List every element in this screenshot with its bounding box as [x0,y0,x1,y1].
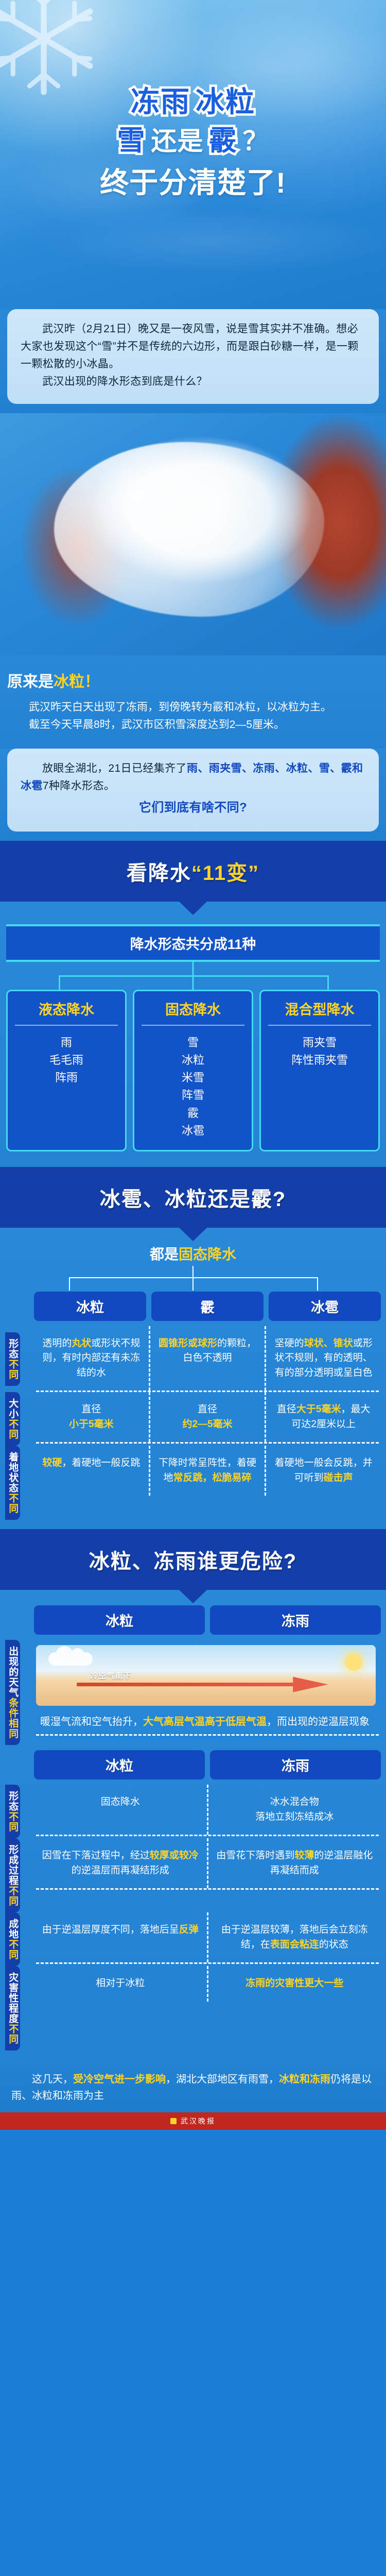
cell-text-highlight: 反弹 [179,1924,199,1935]
row-label-part-1: 大小 [7,1398,18,1419]
cell-text-highlight: 大于5毫米 [296,1404,341,1415]
row-label-shape: 形态不同 [5,1332,20,1386]
cell-text-pre: 由于逆温层厚度不同，落地后呈 [42,1924,179,1935]
ice-pellet-heading: 原来是冰粒！ [7,669,379,691]
cell-text-highlight: 小于5毫米 [69,1419,114,1430]
cell-text-highlight: 较厚或较冷 [150,1850,199,1861]
connector-drop-2 [192,1277,194,1291]
sun-icon [345,1653,362,1671]
row-label-part-2: 不同 [7,2024,18,2044]
cell-shape-hail: 坚硬的球状、锥状或形状不规则，有的透明、有的部分透明或呈白色 [265,1326,381,1391]
table-row: 灾害性程度不同 相对于冰粒 冻雨的灾害性更大一些 [5,1966,381,2050]
illustration-arrow-label: 冷空气南下 [91,1670,132,1681]
hubei-section: 放眼全湖北，21日已经集齐了雨、雨夹雪、冻雨、冰粒、雪、霰和冰雹7种降水形态。 … [0,749,386,841]
cell-severity-ice-pellets: 相对于冰粒 [34,1966,207,2002]
cell-shape2-freezing-rain: 冰水混合物 落地立刻冻结成冰 [207,1785,381,1835]
divider [142,1025,244,1026]
logo-mark-icon [170,2118,177,2124]
cell-text-pre: 因雪在下落过程中，经过 [42,1850,150,1861]
inversion-text-post: ，而出现的逆温层现象 [267,1716,370,1727]
banner-compare2-title: 冰粒、冻雨谁更危险? [5,1545,381,1574]
connector-drop-3 [327,975,329,990]
list-item: 冰粒 [138,1052,248,1069]
tree-column-title: 液态降水 [12,998,121,1025]
banner-11-prefix: 看降水 [127,862,191,885]
hero-title-word-or: 还是 [151,121,204,158]
cell-shape-graupel: 圆锥形或球形的颗粒，白色不透明 [149,1326,265,1391]
row-separator [36,1734,379,1736]
cell-text-highlight: 碰击声 [324,1472,353,1483]
row-label-part-2: 不同 [7,1493,18,1514]
cell-size-ice-pellets: 直径小于5毫米 [34,1392,149,1442]
ice-pellet-heading-highlight: 冰粒！ [54,673,100,690]
tree-column-solid: 固态降水 雪 冰粒 米雪 阵雪 霰 冰雹 [133,990,253,1151]
connector-drop-1 [69,1277,70,1291]
compare1-lead: 都是固态降水 [5,1243,381,1264]
cell-text-highlight: 约2—5毫米 [182,1419,232,1430]
list-item: 阵雪 [138,1087,248,1104]
intro-section: 武汉昨（2月21日）晚又是一夜风雪，说是雪其实并不准确。想必大家也发现这个“雪”… [0,309,386,413]
row-label-same-conditions: 出现的天气条件相同 [5,1640,20,1745]
ice-pellet-paragraph-2: 截至今天早晨8时，武汉市区积雪深度达到2—5厘米。 [7,716,379,734]
table-row: 形态不同 透明的丸状或形状不规则，有时内部还有未冻结的水 圆锥形或球形的颗粒，白… [5,1326,381,1393]
banner-notch-icon [179,901,207,915]
hubei-text-c: 7种降水形态。 [43,780,115,792]
row-label-landing: 着地状态不同 [5,1446,20,1520]
tree-column-liquid: 液态降水 雨 毛毛雨 阵雨 [6,990,127,1151]
ice-pellets-photo [0,413,386,655]
table-row: 出现的天气条件相同 冷空气南下 暖湿气流和空气抬升，大气高层气温高于低层气温，而… [5,1640,381,1745]
compare1-lead-prefix: 都是 [150,1246,179,1262]
row-label-formation: 形成过程不同 [5,1838,20,1912]
tree-column-title: 固态降水 [138,998,248,1025]
row-label-part-1: 着地状态 [7,1452,18,1493]
list-item: 阵性雨夹雪 [265,1052,374,1069]
inversion-text-pre: 暖湿气流和空气抬升， [40,1716,143,1727]
column-header-ice-pellets: 冰粒 [34,1292,146,1321]
column-header-ice-pellets-2: 冰粒 [34,1605,205,1635]
banner-11-highlight: “11变” [191,862,259,885]
snowflake-icon [0,0,103,98]
cell-text-post: ，着硬地一般反跳 [62,1458,140,1468]
row-separator [36,1962,379,1964]
cell-text-pre: 直径 [277,1404,296,1415]
intro-card: 武汉昨（2月21日）晚又是一夜风雪，说是雪其实并不准确。想必大家也发现这个“雪”… [7,309,379,404]
list-item: 冰雹 [138,1122,248,1140]
cell-formation-ice-pellets: 因雪在下落过程中，经过较厚或较冷的逆温层而再凝结形成 [34,1838,207,1888]
compare1-header-row: 冰粒 霰 冰雹 [5,1292,381,1326]
cell-text-highlight: 圆锥形或球形 [159,1338,217,1349]
inversion-text-highlight: 大气高层气温高于低层气温 [143,1716,267,1727]
tree-column-title: 混合型降水 [265,998,374,1025]
cell-size-graupel: 直径约2—5毫米 [149,1392,265,1442]
hubei-text-a: 放眼全湖北，21日已经集齐了 [42,762,187,774]
hero-title-word-graupel: 霰 [209,126,238,156]
tree-title: 降水形态共分成11种 [6,924,380,962]
table-row: 成地不同 由于逆温层厚度不同，落地后呈反弹 由于逆温层较薄，落地后会立刻冻结，在… [5,1912,381,1966]
hero-subtitle: 终于分清楚了! [100,160,286,201]
column-header-freezing-rain-2: 冻雨 [210,1750,381,1780]
footer-brand: 武汉晚报 [181,2116,216,2126]
hero-title-word-ice-pellets: 冰粒 [196,87,255,117]
cell-text-post: 的逆温层而再凝结形成 [72,1865,169,1876]
hero-section: 冻雨 冰粒 雪 还是 霰 ？ 终于分清楚了! [0,0,386,309]
footer-text-highlight-2: 冰粒和冻雨 [279,2074,330,2085]
list-item: 雨夹雪 [265,1034,374,1052]
spacer [5,1745,29,1785]
compare2-header-row: 冰粒 冻雨 [5,1605,381,1640]
row-label-part-1: 出现的天气 [7,1646,18,1698]
column-header-graupel: 霰 [151,1292,264,1321]
cell-landing-hail: 着硬地一般会反跳，并可听到碰击声 [265,1446,381,1496]
cell-text-highlight: 表面会粘连 [270,1939,319,1950]
intro-paragraph-1: 武汉昨（2月21日）晚又是一夜风雪，说是雪其实并不准确。想必大家也发现这个“雪”… [21,320,365,373]
cell-text-pre: 直径 [81,1404,101,1415]
banner-compare1-title: 冰雹、冰粒还是霰? [5,1182,381,1212]
connector-drop-1 [59,975,60,990]
table-row: 形态不同 固态降水 冰水混合物 落地立刻冻结成冰 [5,1785,381,1838]
tree-columns: 液态降水 雨 毛毛雨 阵雨 固态降水 雪 冰粒 米雪 阵雪 霰 冰雹 [6,990,380,1151]
row-separator [36,1888,379,1890]
cell-text-highlight: 较硬 [42,1458,62,1468]
list-item: 毛毛雨 [12,1052,121,1069]
connector-stem [192,1266,194,1277]
banner-notch-icon [179,1227,207,1241]
connector-drop-2 [192,975,194,990]
cell-ground-ice-pellets: 由于逆温层厚度不同，落地后呈反弹 [34,1912,207,1962]
compare1-lead-highlight: 固态降水 [179,1246,236,1262]
ice-pellet-heading-prefix: 原来是 [7,673,54,690]
footer-text-mid: ，湖北大部地区有雨雪， [166,2074,279,2085]
hero-title: 冻雨 冰粒 雪 还是 霰 ？ 终于分清楚了! [0,87,386,201]
banner-notch-icon [179,1589,207,1603]
hubei-question: 它们到底有啥不同? [21,798,365,818]
row-label-shape-2: 形态不同 [5,1785,20,1838]
row-label-part-2: 不同 [7,1359,18,1380]
row-label-part-1: 形态 [7,1791,18,1811]
ice-pellet-explain-section: 原来是冰粒！ 武汉昨天白天出现了冻雨，到傍晚转为霰和冰粒，以冰粒为主。 截至今天… [0,655,386,749]
precipitation-tree: 降水形态共分成11种 液态降水 雨 毛毛雨 阵雨 固态降水 [0,902,386,1167]
spacer [5,1605,29,1640]
cell-text-pre: 直径 [198,1404,217,1415]
cell-severity-freezing-rain: 冻雨的灾害性更大一些 [207,1966,381,2002]
cell-landing-graupel: 下降时常呈阵性，着硬地常反跳，松脆易碎 [149,1446,265,1496]
cell-text-highlight: 常反跳，松脆易碎 [173,1472,252,1483]
cell-size-hail: 直径大于5毫米，最大可达2厘米以上 [265,1392,381,1442]
cell-text-pre: 透明的 [42,1338,72,1349]
cell-ground-freezing-rain: 由于逆温层较薄，落地后会立刻冻结，在表面会粘连的状态 [207,1912,381,1962]
row-label-part-2: 条件相同 [7,1698,18,1739]
cell-text-highlight: 丸状 [72,1338,91,1349]
connector-drop-3 [317,1277,318,1291]
banner-hail-vs-pellets: 冰雹、冰粒还是霰? [0,1167,386,1228]
intro-paragraph-2: 武汉出现的降水形态到底是什么？ [21,373,365,391]
compare-table-2: 冰粒 冻雨 出现的天气条件相同 冷空气南下 暖湿气流和空气 [0,1590,386,2060]
footer-bar: 武汉晚报 [0,2112,386,2130]
row-label-part-2: 不同 [7,1886,18,1906]
column-header-freezing-rain: 冻雨 [210,1605,381,1635]
banner-11-types: 看降水“11变” [0,841,386,902]
cell-shape-ice-pellets: 透明的丸状或形状不规则，有时内部还有未冻结的水 [34,1326,149,1391]
list-item: 霰 [138,1105,248,1122]
divider [268,1025,371,1026]
row-label-part-1: 形态 [7,1338,18,1359]
column-header-hail: 冰雹 [269,1292,381,1321]
footer-note: 这几天，受冷空气进一步影响，湖北大部地区有雨雪，冰粒和冻雨仍将是以雨、冰粒和冻雨… [0,2060,386,2112]
footer-text-highlight-1: 受冷空气进一步影响 [73,2074,166,2085]
compare-table-1: 都是固态降水 冰粒 霰 冰雹 形态不同 [0,1228,386,1530]
compare2-header-row-2: 冰粒 冻雨 [5,1745,381,1785]
row-label-part-2: 不同 [7,1419,18,1439]
list-item: 阵雨 [12,1069,121,1087]
row-separator [36,1442,379,1444]
cell-shape2-ice-pellets: 固态降水 [34,1785,207,1835]
banner-danger-compare: 冰粒、冻雨谁更危险? [0,1529,386,1590]
list-item: 雪 [138,1034,248,1052]
row-label-part-1: 形成过程 [7,1844,18,1886]
tree-column-mixed: 混合型降水 雨夹雪 阵性雨夹雪 [259,990,380,1151]
ice-grains-region [54,442,324,616]
hero-title-question-mark: ？ [243,121,269,158]
cell-landing-ice-pellets: 较硬，着硬地一般反跳 [34,1446,149,1496]
hubei-card: 放眼全湖北，21日已经集齐了雨、雨夹雪、冻雨、冰粒、雪、霰和冰雹7种降水形态。 … [7,749,379,832]
cloud-icon [48,1652,93,1666]
row-label-part-1: 灾害性程度 [7,1972,18,2024]
inversion-description: 暖湿气流和空气抬升，大气高层气温高于低层气温，而出现的逆温层现象 [29,1706,381,1734]
ice-pellet-paragraph-1: 武汉昨天白天出现了冻雨，到傍晚转为霰和冰粒，以冰粒为主。 [7,699,379,716]
row-label-part-2: 不同 [7,1811,18,1832]
row-label-size: 大小不同 [5,1392,20,1446]
list-item: 雨 [12,1034,121,1052]
table-row: 形成过程不同 因雪在下落过程中，经过较厚或较冷的逆温层而再凝结形成 由雪花下落时… [5,1838,381,1912]
cell-text-post: 的状态 [319,1939,348,1950]
table-row: 大小不同 直径小于5毫米 直径约2—5毫米 直径大于5毫米，最大可达2厘米以上 [5,1392,381,1446]
row-label-ground-state: 成地不同 [5,1912,20,1966]
cell-formation-freezing-rain: 由雪花下落时遇到较薄的逆温层融化再凝结而成 [207,1838,381,1888]
compare1-connectors [5,1266,381,1292]
cell-text-highlight: 较薄 [294,1850,314,1861]
hero-title-word-snow: 雪 [117,126,146,156]
cell-text-pre: 坚硬的 [275,1338,304,1349]
spacer [5,1292,29,1326]
cell-text-highlight: 球状、锥状 [304,1338,353,1349]
cell-text-highlight: 冻雨的灾害性更大一些 [245,1978,343,1989]
tree-connectors [6,962,380,990]
footer-text-pre: 这几天， [32,2074,73,2085]
connector-stem [192,962,194,975]
infographic-page: 冻雨 冰粒 雪 还是 霰 ？ 终于分清楚了! 武汉昨（2月21日）晚又是一夜风雪… [0,0,386,2130]
row-label-part-1: 成地 [7,1919,18,1939]
row-label-part-2: 不同 [7,1939,18,1960]
row-separator [36,1835,379,1836]
cell-text-pre: 由雪花下落时遇到 [216,1850,294,1861]
table-row: 着地状态不同 较硬，着硬地一般反跳 下降时常呈阵性，着硬地常反跳，松脆易碎 着硬… [5,1446,381,1520]
inversion-layer-illustration: 冷空气南下 [36,1645,376,1706]
list-item: 米雪 [138,1069,248,1087]
column-header-ice-pellets-3: 冰粒 [34,1750,205,1780]
divider [15,1025,118,1026]
row-label-severity: 灾害性程度不同 [5,1966,20,2050]
hero-title-word-freezing-rain: 冻雨 [131,87,190,117]
